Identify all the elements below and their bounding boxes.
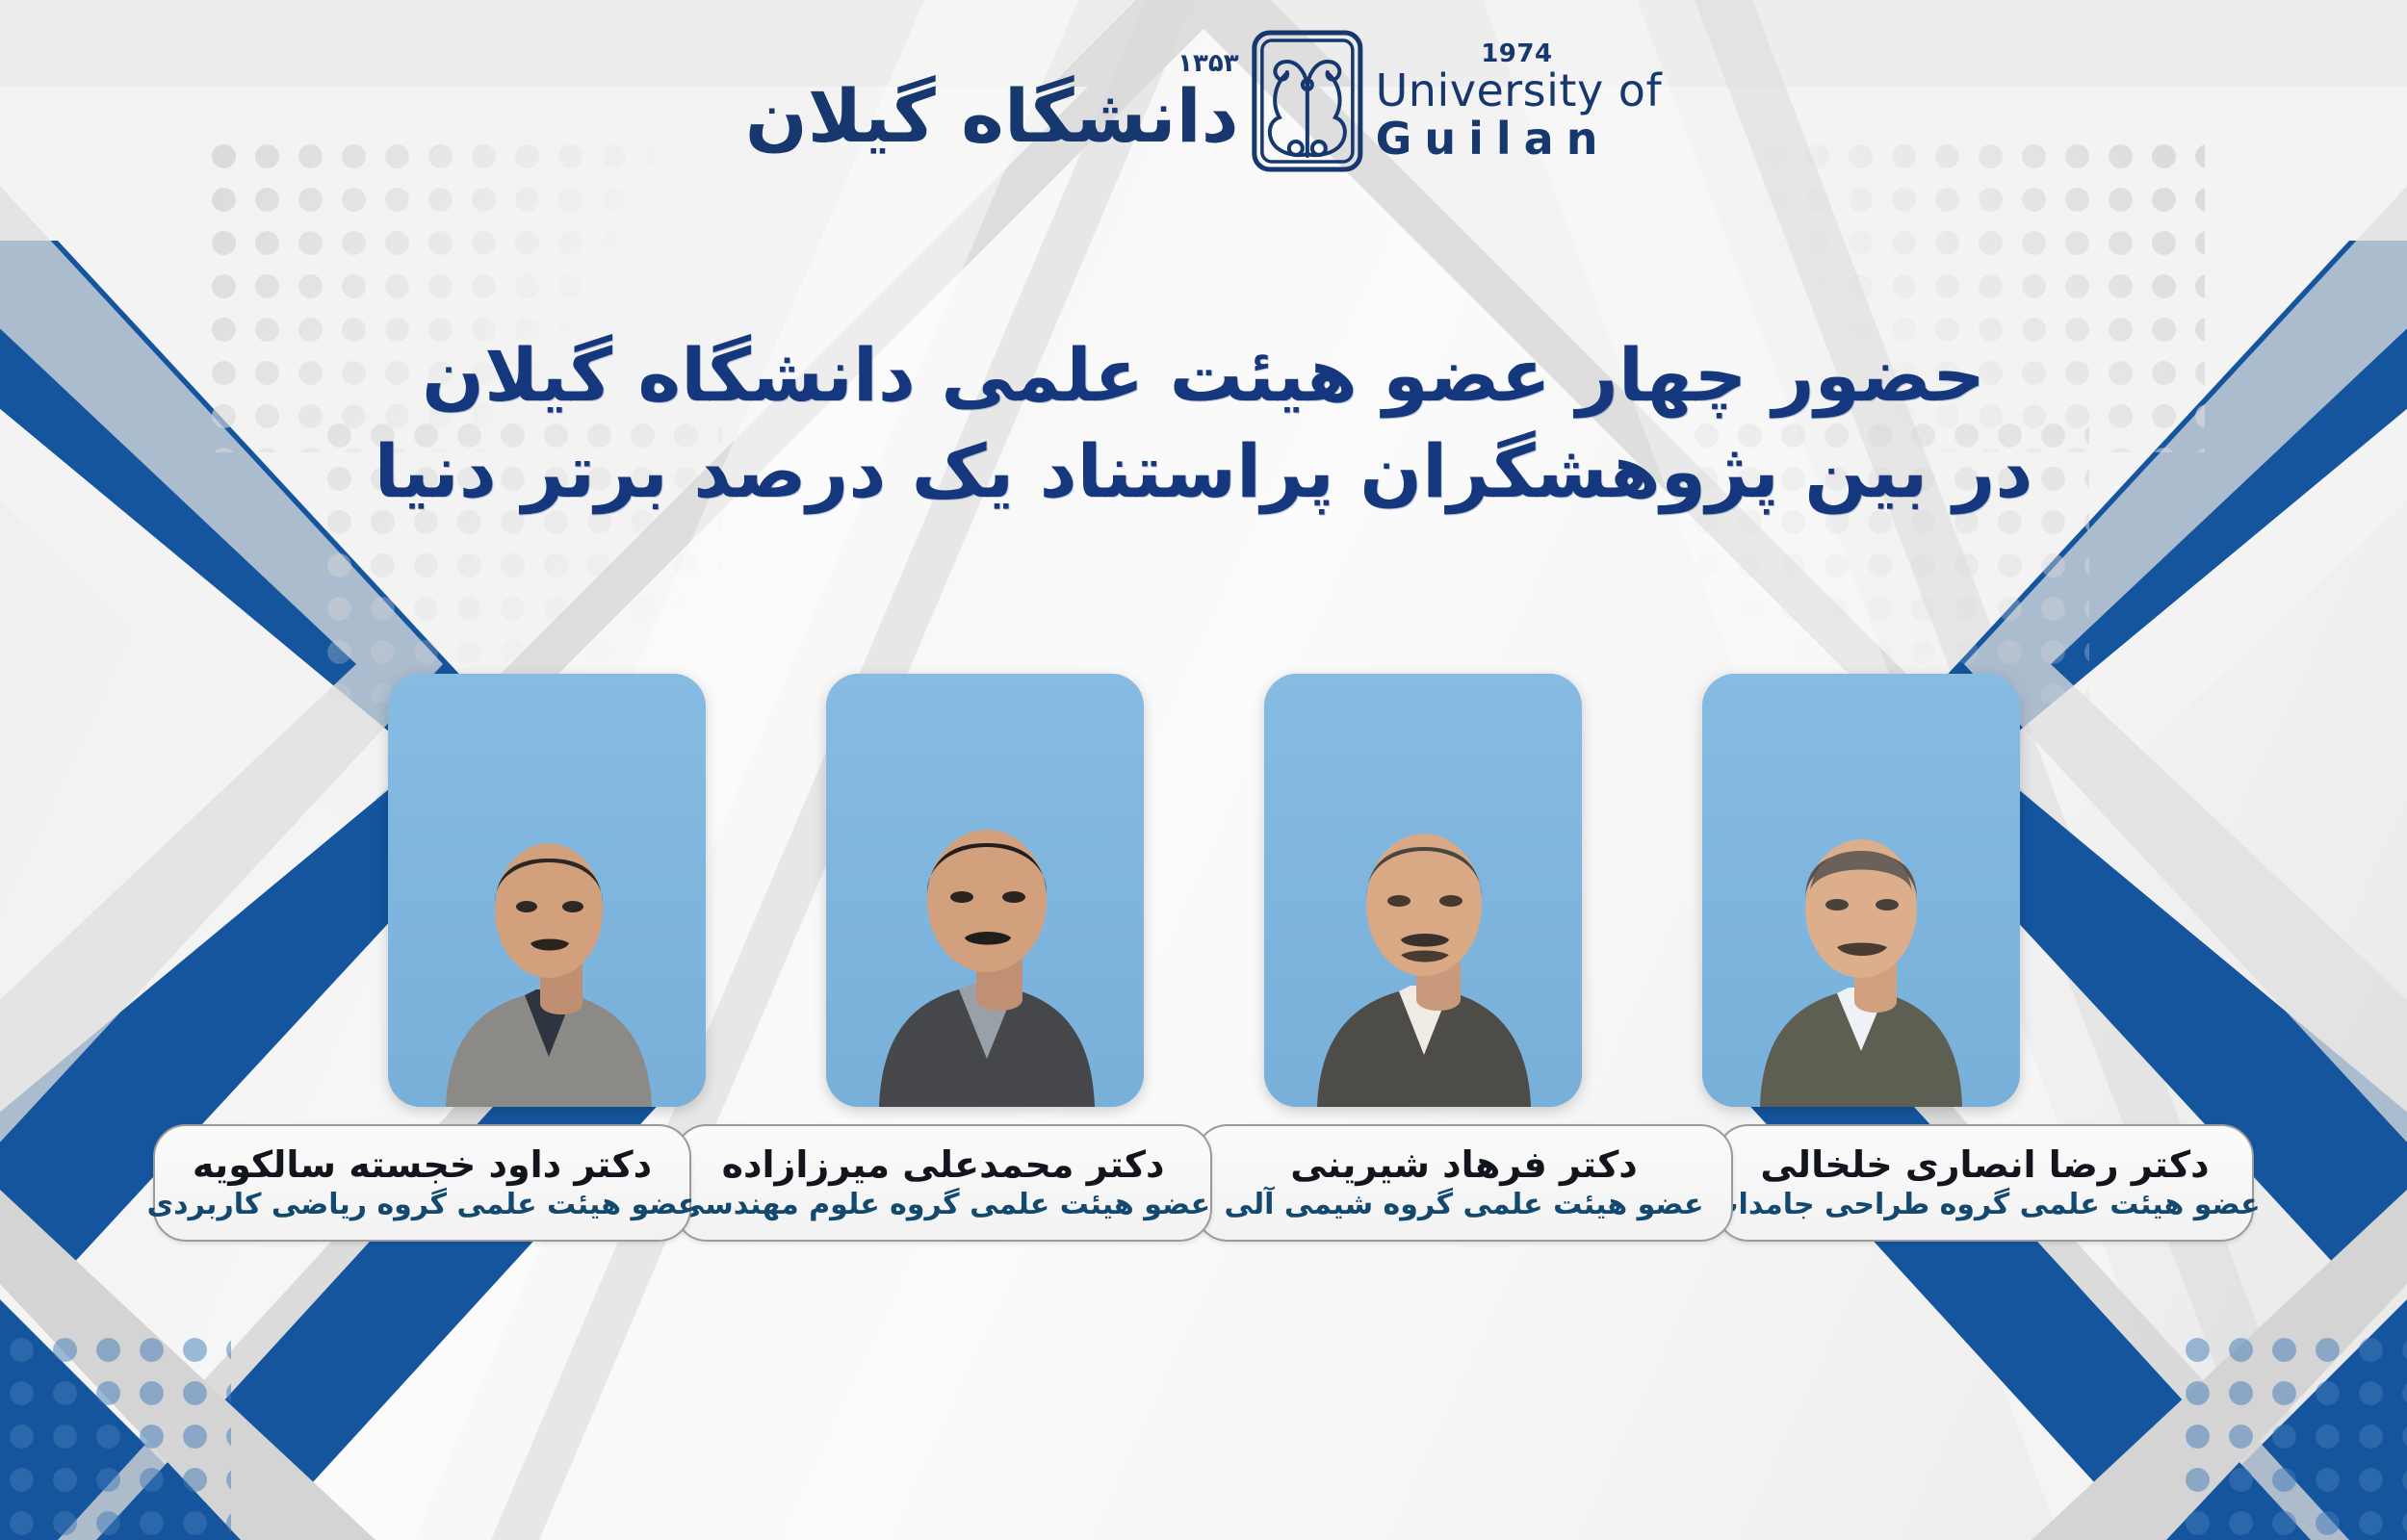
nameplate-role-2: عضو هیئت علمی گروه علوم مهندسی: [676, 1189, 1210, 1220]
nameplate-2: دکتر محمدعلی میرزازاده عضو هیئت علمی گرو…: [674, 1124, 1212, 1242]
halftone-dots-bottom-left: [0, 1328, 231, 1540]
logo-guilan-word: Guilan: [1376, 116, 1611, 161]
portrait-row: [0, 674, 2407, 1107]
portrait-reza-ansari-khalkhali: [1702, 674, 2020, 1107]
nameplate-3: دکتر داود خجسته سالکویه عضو هیئت علمی گر…: [153, 1124, 691, 1242]
page-title: حضور چهار عضو هیئت علمی دانشگاه گیلان در…: [0, 327, 2407, 521]
logo-university-name-fa: دانشگاه گیلان: [745, 82, 1239, 151]
university-logo: 1974 University of Guilan ۱۳۵۳ دانشگاه گ…: [745, 21, 1662, 180]
person-card-3: [388, 674, 706, 1107]
nameplate-name-1: دکتر فرهاد شیرینی: [1290, 1145, 1638, 1185]
nameplate-1: دکتر فرهاد شیرینی عضو هیئت علمی گروه شیم…: [1195, 1124, 1733, 1242]
nameplate-0: دکتر رضا انصاری خلخالی عضو هیئت علمی گرو…: [1716, 1124, 2254, 1242]
person-card-2: [826, 674, 1144, 1107]
halftone-dots-bottom-right: [2176, 1328, 2407, 1540]
logo-university-word: University of: [1376, 68, 1663, 113]
portrait-davod-khojasteh-salkuyeh: [388, 674, 706, 1107]
poster-canvas: 1974 University of Guilan ۱۳۵۳ دانشگاه گ…: [0, 0, 2407, 1540]
title-line-1: حضور چهار عضو هیئت علمی دانشگاه گیلان: [0, 327, 2407, 423]
portrait-mohammadali-mirzazadeh: [826, 674, 1144, 1107]
nameplate-role-0: عضو هیئت علمی گروه طراحی جامدات: [1709, 1189, 2260, 1220]
guilan-university-emblem-icon: [1249, 29, 1366, 173]
portrait-farhad-shirini: [1264, 674, 1582, 1107]
nameplate-row: دکتر رضا انصاری خلخالی عضو هیئت علمی گرو…: [0, 1124, 2407, 1242]
logo-year-gregorian: 1974: [1481, 41, 1552, 66]
nameplate-role-1: عضو هیئت علمی گروه شیمی آلی: [1225, 1189, 1704, 1220]
nameplate-name-3: دکتر داود خجسته سالکویه: [193, 1145, 652, 1185]
logo-english-text: 1974 University of Guilan: [1376, 41, 1663, 161]
logo-persian-text: ۱۳۵۳ دانشگاه گیلان: [745, 49, 1239, 151]
nameplate-name-2: دکتر محمدعلی میرزازاده: [722, 1145, 1165, 1185]
person-card-1: [1264, 674, 1582, 1107]
person-card-0: [1702, 674, 2020, 1107]
title-line-2: در بین پژوهشگران پراستناد یک درصد برتر د…: [0, 423, 2407, 520]
nameplate-role-3: عضو هیئت علمی گروه ریاضی کاربردی: [147, 1189, 698, 1220]
nameplate-name-0: دکتر رضا انصاری خلخالی: [1760, 1145, 2209, 1185]
